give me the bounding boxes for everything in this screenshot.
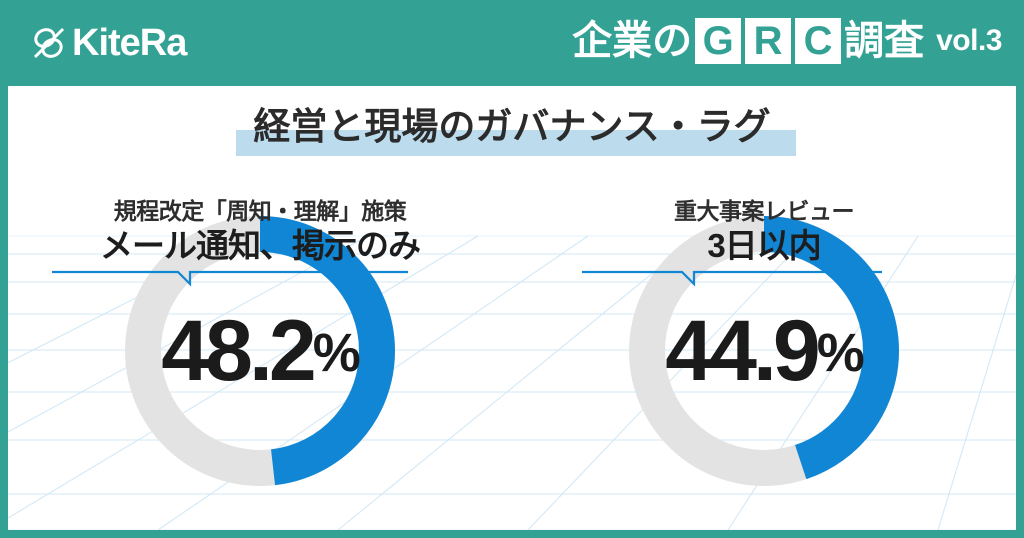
value-number-left: 48.2 [161, 308, 312, 394]
callout-pointer-right [512, 266, 1016, 290]
logo-wordmark: KiteRa [72, 24, 186, 62]
title-suffix: 調査 [844, 18, 924, 64]
metric-block-right: 44.9 % 重大事案レビュー 3日以内 [512, 196, 1016, 530]
value-unit-right: % [817, 310, 863, 396]
labels-right: 重大事案レビュー 3日以内 [512, 196, 1016, 267]
label-small-right: 重大事案レビュー [512, 196, 1016, 226]
report-title: 企業の G R C 調査 vol.3 [572, 18, 1002, 64]
infographic-canvas: KiteRa 企業の G R C 調査 vol.3 [0, 0, 1024, 538]
grc-letter-r: R [745, 18, 791, 64]
header-bar: KiteRa 企業の G R C 調査 vol.3 [0, 0, 1024, 86]
value-unit-left: % [313, 310, 359, 396]
value-number-right: 44.9 [665, 308, 816, 394]
subtitle-container: 経営と現場のガバナンス・ラグ [8, 104, 1016, 150]
kitera-logo: KiteRa [32, 24, 186, 62]
grc-letter-g: G [695, 18, 741, 64]
subtitle-text: 経営と現場のガバナンス・ラグ [253, 104, 770, 150]
labels-left: 規程改定「周知・理解」施策 メール通知、掲示のみ [8, 196, 512, 267]
label-big-left: メール通知、掲示のみ [8, 225, 512, 267]
title-prefix: 企業の [572, 18, 692, 64]
interlocking-rings-icon [32, 24, 66, 62]
volume-label: vol.3 [936, 18, 1002, 64]
content-panel: 経営と現場のガバナンス・ラグ 48.2 % 規程改定「周知・理解」施策 メール通… [8, 86, 1016, 530]
label-big-right: 3日以内 [512, 225, 1016, 267]
callout-pointer-left [8, 266, 512, 290]
label-small-left: 規程改定「周知・理解」施策 [8, 196, 512, 226]
grc-letter-c: C [795, 18, 841, 64]
metric-block-left: 48.2 % 規程改定「周知・理解」施策 メール通知、掲示のみ [8, 196, 512, 530]
